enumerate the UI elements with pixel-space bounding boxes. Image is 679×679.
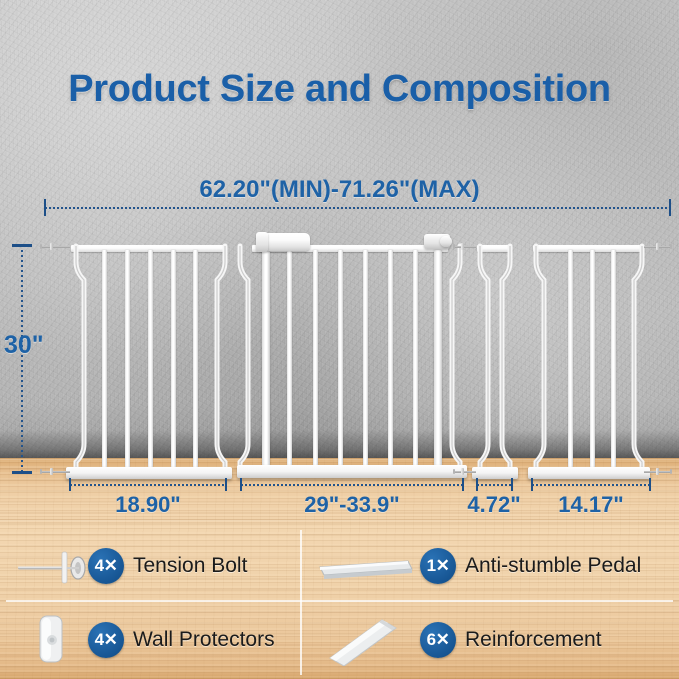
- right-panel-bar: [611, 250, 616, 471]
- tension-bolt-small-bottom: [452, 468, 476, 475]
- left-panel-base-bar: [66, 467, 232, 479]
- right-panel-base-bar: [528, 467, 650, 479]
- small-panel-frame-right: [492, 246, 520, 474]
- reinforcement-icon: [322, 610, 404, 666]
- quantity-badge: 4✕: [88, 548, 124, 584]
- right-panel-bar: [568, 250, 573, 471]
- left-panel-frame-left: [66, 246, 96, 474]
- wall-protector-icon: [30, 612, 74, 668]
- left-panel-frame-right: [205, 246, 235, 474]
- segment-dimension-line: [241, 484, 463, 486]
- gate-door-frame-right: [440, 246, 468, 474]
- segment-cap: [240, 478, 242, 491]
- segment-cap: [511, 478, 513, 491]
- part-row-reinforcement: 6✕ Reinforcement: [420, 622, 602, 658]
- segment-cap: [476, 478, 478, 491]
- segment-cap: [649, 478, 651, 491]
- gate-door-bar: [388, 250, 393, 471]
- segment-label-gate-door: 29"-33.9": [241, 492, 463, 518]
- gate-door-bar: [313, 250, 318, 471]
- tension-bolt-right-bottom: [644, 468, 674, 475]
- segment-label-right-extension: 14.17": [532, 492, 650, 518]
- part-label: Tension Bolt: [133, 554, 247, 578]
- segment-label-left-extension: 18.90": [70, 492, 226, 518]
- part-row-wall-protectors: 4✕ Wall Protectors: [88, 622, 275, 658]
- quantity-badge: 1✕: [420, 548, 456, 584]
- parts-divider-vertical: [300, 530, 302, 675]
- gate-door-bar: [363, 250, 368, 471]
- part-label: Reinforcement: [465, 628, 602, 652]
- page-title: Product Size and Composition: [0, 68, 679, 111]
- tension-bolt-right-top: [644, 243, 674, 250]
- gate-door-bar: [338, 250, 343, 471]
- segment-label-small-extension: 4.72": [459, 492, 529, 518]
- left-panel-bar: [125, 250, 130, 471]
- segment-cap: [225, 478, 227, 491]
- tension-bolt-icon: [16, 548, 94, 588]
- tension-bolt-left-top: [38, 243, 70, 250]
- segment-cap: [531, 478, 533, 491]
- overall-width-cap-left: [44, 199, 46, 216]
- gate-handle-bracket: [256, 232, 268, 252]
- overall-width-dimension-line: [45, 207, 671, 209]
- overall-width-label: 62.20"(MIN)-71.26"(MAX): [0, 176, 679, 204]
- gate-handle[interactable]: [262, 233, 310, 251]
- gate-door-base-bar: [237, 465, 467, 478]
- infographic-canvas: Product Size and Composition 62.20"(MIN)…: [0, 0, 679, 679]
- segment-cap: [69, 478, 71, 491]
- tension-bolt-left-bottom: [38, 468, 70, 475]
- gate-door-bar: [287, 250, 292, 471]
- gate-door-hinge-post: [262, 250, 270, 471]
- segment-cap: [462, 478, 464, 491]
- right-panel-frame-right: [624, 246, 652, 474]
- parts-divider-horizontal: [6, 600, 673, 602]
- left-panel-bar: [193, 250, 198, 471]
- gate-door-bar: [413, 250, 418, 471]
- segment-dimension-line: [532, 484, 650, 486]
- height-cap-bottom: [12, 471, 32, 474]
- height-cap-top: [12, 244, 32, 247]
- segment-dimension-line: [477, 484, 512, 486]
- part-row-tension-bolt: 4✕ Tension Bolt: [88, 548, 247, 584]
- right-panel-frame-left: [528, 246, 556, 474]
- left-panel-bar: [102, 250, 107, 471]
- quantity-badge: 6✕: [420, 622, 456, 658]
- gate-door-frame-left: [234, 246, 260, 474]
- anti-stumble-pedal-icon: [316, 553, 416, 585]
- left-panel-bar: [148, 250, 153, 471]
- height-label: 30": [4, 331, 44, 360]
- part-row-anti-stumble-pedal: 1✕ Anti-stumble Pedal: [420, 548, 641, 584]
- quantity-badge: 4✕: [88, 622, 124, 658]
- overall-width-cap-right: [669, 199, 671, 216]
- left-panel-bar: [171, 250, 176, 471]
- tension-bolt-small-top: [452, 243, 476, 250]
- segment-dimension-line: [70, 484, 226, 486]
- part-label: Wall Protectors: [133, 628, 275, 652]
- gate-latch-catch: [440, 236, 452, 247]
- floor-plank-seam: [0, 519, 679, 521]
- part-label: Anti-stumble Pedal: [465, 554, 641, 578]
- right-panel-bar: [590, 250, 595, 471]
